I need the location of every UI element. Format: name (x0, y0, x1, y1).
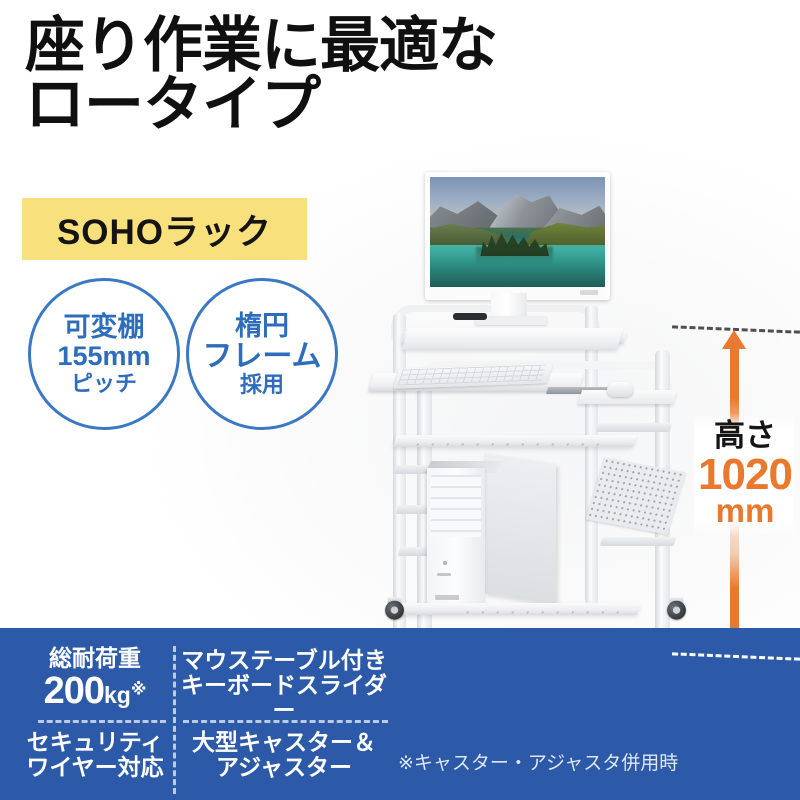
feature-divider-vertical (173, 646, 176, 794)
feature-keyboard-slider: マウステーブル付き キーボードスライダー (178, 648, 390, 722)
monitor (425, 172, 610, 300)
advertisement-banner: 座り作業に最適な ロータイプ SOHOラック 可変棚 155mm ピッチ 楕円 … (0, 0, 800, 800)
product-category-label: SOHOラック (57, 204, 272, 255)
desk-accessory-dongle (453, 313, 487, 320)
feature-total-load-value: 200 (44, 671, 104, 712)
arrow-head-up-icon (722, 330, 746, 349)
product-category-tag: SOHOラック (22, 198, 307, 260)
feature-grid: 総耐荷重 200kg※ マウステーブル付き キーボードスライダー セキュリティ … (18, 634, 388, 794)
wallpaper-reflection (476, 247, 553, 265)
page-title: 座り作業に最適な ロータイプ (25, 16, 775, 135)
feature-total-load-asterisk: ※ (131, 681, 147, 698)
caster-hub (673, 606, 680, 613)
feature-total-load: 総耐荷重 200kg※ (20, 646, 170, 712)
monitor-screen-wallpaper (430, 177, 605, 287)
product-photo-soho-rack (365, 165, 695, 685)
rack-top-desk-edge (402, 328, 623, 350)
pc-tower-power-led (443, 561, 447, 565)
rack-middle-shelf-perforations (409, 437, 612, 447)
monitor-logo (580, 290, 598, 295)
badge-adjustable-shelf-line1: 可変棚 (64, 313, 145, 341)
feature-divider-horizontal-left (38, 720, 166, 723)
headline-line-1: 座り作業に最適な (25, 12, 497, 79)
feature-total-load-value-row: 200kg※ (20, 671, 170, 712)
badge-oval-frame-line3: 採用 (240, 373, 284, 396)
footnote: ※キャスター・アジャスタ併用時 (398, 748, 678, 775)
rack-side-rail-4 (596, 423, 673, 432)
rack-bottom-shelf-perforations (459, 605, 632, 615)
badge-adjustable-shelf: 可変棚 155mm ピッチ (28, 278, 180, 430)
height-label-word: 高さ (690, 420, 800, 451)
mouse (607, 382, 633, 397)
pc-tower-side-panel (484, 453, 556, 604)
pc-tower-drive-bays (431, 475, 481, 537)
badge-oval-frame: 楕円 フレーム 採用 (186, 278, 338, 430)
badge-adjustable-shelf-line2: 155mm (57, 342, 150, 370)
rack-post-back-left (393, 313, 406, 643)
badge-oval-frame-line1: 楕円 (235, 312, 289, 340)
caster-back-right (667, 597, 686, 619)
badge-oval-frame-line2: フレーム (202, 341, 321, 373)
headline-line-2: ロータイプ (25, 71, 320, 138)
pc-tower-badge (435, 595, 459, 600)
caster-back-left (385, 597, 404, 619)
caster-hub (391, 606, 398, 613)
rack-side-rail-5 (600, 537, 677, 546)
feature-total-load-unit: kg (104, 682, 131, 708)
feature-security-wire: セキュリティ ワイヤー対応 (20, 730, 170, 780)
feature-total-load-title: 総耐荷重 (20, 646, 170, 671)
rack-post-back-right (585, 305, 598, 605)
height-value: 1020 (690, 453, 800, 497)
rack-side-mesh-panel (586, 457, 686, 534)
height-callout: 高さ 1020 mm (690, 420, 800, 527)
feature-caster-adjuster: 大型キャスター＆ アジャスター (178, 730, 390, 780)
badge-adjustable-shelf-line3: ピッチ (71, 372, 137, 395)
pc-tower-port (437, 573, 451, 576)
